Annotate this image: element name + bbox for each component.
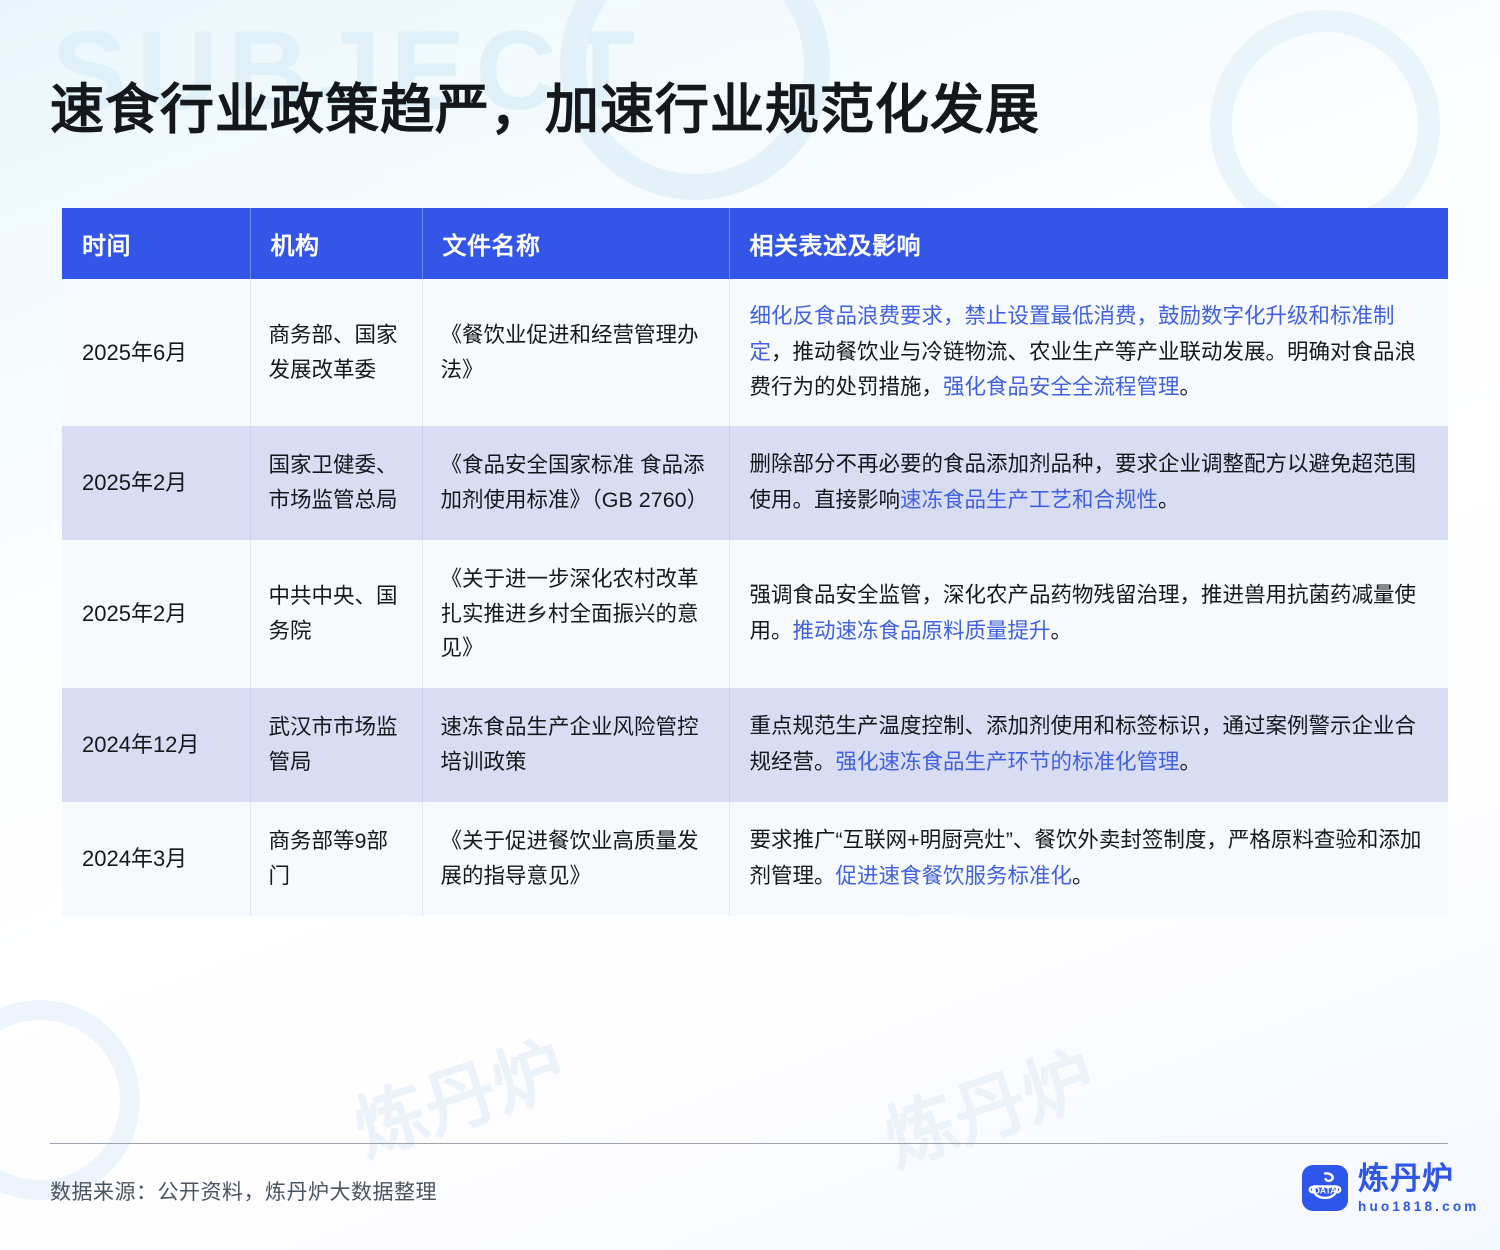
cell-document-name: 《关于促进餐饮业高质量发展的指导意见》 xyxy=(422,802,729,916)
table-row: 2024年12月武汉市市场监管局速冻食品生产企业风险管控培训政策重点规范生产温度… xyxy=(62,688,1448,802)
cell-organization: 商务部等9部门 xyxy=(250,802,422,916)
normal-text: 。 xyxy=(1072,864,1094,888)
table-row: 2025年6月商务部、国家发展改革委《餐饮业促进和经营管理办法》细化反食品浪费要… xyxy=(62,279,1448,426)
footer-divider xyxy=(50,1143,1448,1144)
cell-time: 2024年12月 xyxy=(62,688,250,802)
highlighted-text: 速冻食品生产工艺和合规性 xyxy=(900,488,1158,512)
table-row: 2025年2月国家卫健委、市场监管总局《食品安全国家标准 食品添加剂使用标准》（… xyxy=(62,426,1448,540)
normal-text: 。 xyxy=(1051,619,1073,643)
normal-text: 。 xyxy=(1158,488,1180,512)
table-row: 2025年2月中共中央、国务院《关于进一步深化农村改革 扎实推进乡村全面振兴的意… xyxy=(62,540,1448,688)
background-watermark-tile: 炼丹炉 xyxy=(869,1019,1107,1186)
cell-description: 重点规范生产温度控制、添加剂使用和标签标识，通过案例警示企业合规经营。强化速冻食… xyxy=(729,688,1448,802)
svg-text:DATA: DATA xyxy=(1314,1186,1337,1196)
data-source-note: 数据来源：公开资料，炼丹炉大数据整理 xyxy=(50,1176,437,1206)
table-header-row: 时间 机构 文件名称 相关表述及影响 xyxy=(62,208,1448,279)
cell-description: 要求推广“互联网+明厨亮灶”、餐饮外卖封签制度，严格原料查验和添加剂管理。促进速… xyxy=(729,802,1448,916)
policy-table-container: 时间 机构 文件名称 相关表述及影响 2025年6月商务部、国家发展改革委《餐饮… xyxy=(62,208,1448,916)
table-body: 2025年6月商务部、国家发展改革委《餐饮业促进和经营管理办法》细化反食品浪费要… xyxy=(62,279,1448,916)
highlighted-text: 促进速食餐饮服务标准化 xyxy=(836,864,1073,888)
cell-time: 2025年2月 xyxy=(62,540,250,688)
page-title: 速食行业政策趋严，加速行业规范化发展 xyxy=(50,78,1040,143)
cell-document-name: 速冻食品生产企业风险管控培训政策 xyxy=(422,688,729,802)
cell-organization: 商务部、国家发展改革委 xyxy=(250,279,422,426)
cell-document-name: 《关于进一步深化农村改革 扎实推进乡村全面振兴的意见》 xyxy=(422,540,729,688)
normal-text: 。 xyxy=(1180,750,1202,774)
background-watermark-tile: 炼丹炉 xyxy=(339,1009,577,1176)
highlighted-text: 推动速冻食品原料质量提升 xyxy=(793,619,1051,643)
highlighted-text: 强化食品安全全流程管理 xyxy=(943,375,1180,399)
background-circle-decor xyxy=(0,1000,140,1200)
logo-text-block: 炼丹炉 huo1818.com xyxy=(1358,1163,1479,1214)
cauldron-data-icon: DATA xyxy=(1302,1165,1348,1211)
page-root: SUBJECT 炼丹炉 炼丹炉 炼丹炉 炼丹炉 DATA 速食行业政策趋严，加速… xyxy=(0,0,1500,1250)
cell-time: 2025年2月 xyxy=(62,426,250,540)
policy-table: 时间 机构 文件名称 相关表述及影响 2025年6月商务部、国家发展改革委《餐饮… xyxy=(62,208,1448,916)
column-header-doc: 文件名称 xyxy=(422,208,729,279)
cell-description: 强调食品安全监管，深化农产品药物残留治理，推进兽用抗菌药减量使用。推动速冻食品原… xyxy=(729,540,1448,688)
table-row: 2024年3月商务部等9部门《关于促进餐饮业高质量发展的指导意见》要求推广“互联… xyxy=(62,802,1448,916)
cell-description: 删除部分不再必要的食品添加剂品种，要求企业调整配方以避免超范围使用。直接影响速冻… xyxy=(729,426,1448,540)
cell-organization: 国家卫健委、市场监管总局 xyxy=(250,426,422,540)
logo-brand-name: 炼丹炉 xyxy=(1358,1163,1479,1194)
cell-document-name: 《餐饮业促进和经营管理办法》 xyxy=(422,279,729,426)
highlighted-text: 强化速冻食品生产环节的标准化管理 xyxy=(836,750,1180,774)
column-header-time: 时间 xyxy=(62,208,250,279)
cell-description: 细化反食品浪费要求，禁止设置最低消费，鼓励数字化升级和标准制定，推动餐饮业与冷链… xyxy=(729,279,1448,426)
cell-time: 2024年3月 xyxy=(62,802,250,916)
column-header-desc: 相关表述及影响 xyxy=(729,208,1448,279)
cell-organization: 中共中央、国务院 xyxy=(250,540,422,688)
column-header-org: 机构 xyxy=(250,208,422,279)
logo-website: huo1818.com xyxy=(1358,1200,1479,1214)
brand-logo: DATA 炼丹炉 huo1818.com xyxy=(1302,1163,1479,1214)
cell-document-name: 《食品安全国家标准 食品添加剂使用标准》（GB 2760） xyxy=(422,426,729,540)
cell-organization: 武汉市市场监管局 xyxy=(250,688,422,802)
normal-text: 。 xyxy=(1180,375,1202,399)
cell-time: 2025年6月 xyxy=(62,279,250,426)
background-circle-decor xyxy=(1210,10,1440,240)
table-head: 时间 机构 文件名称 相关表述及影响 xyxy=(62,208,1448,279)
